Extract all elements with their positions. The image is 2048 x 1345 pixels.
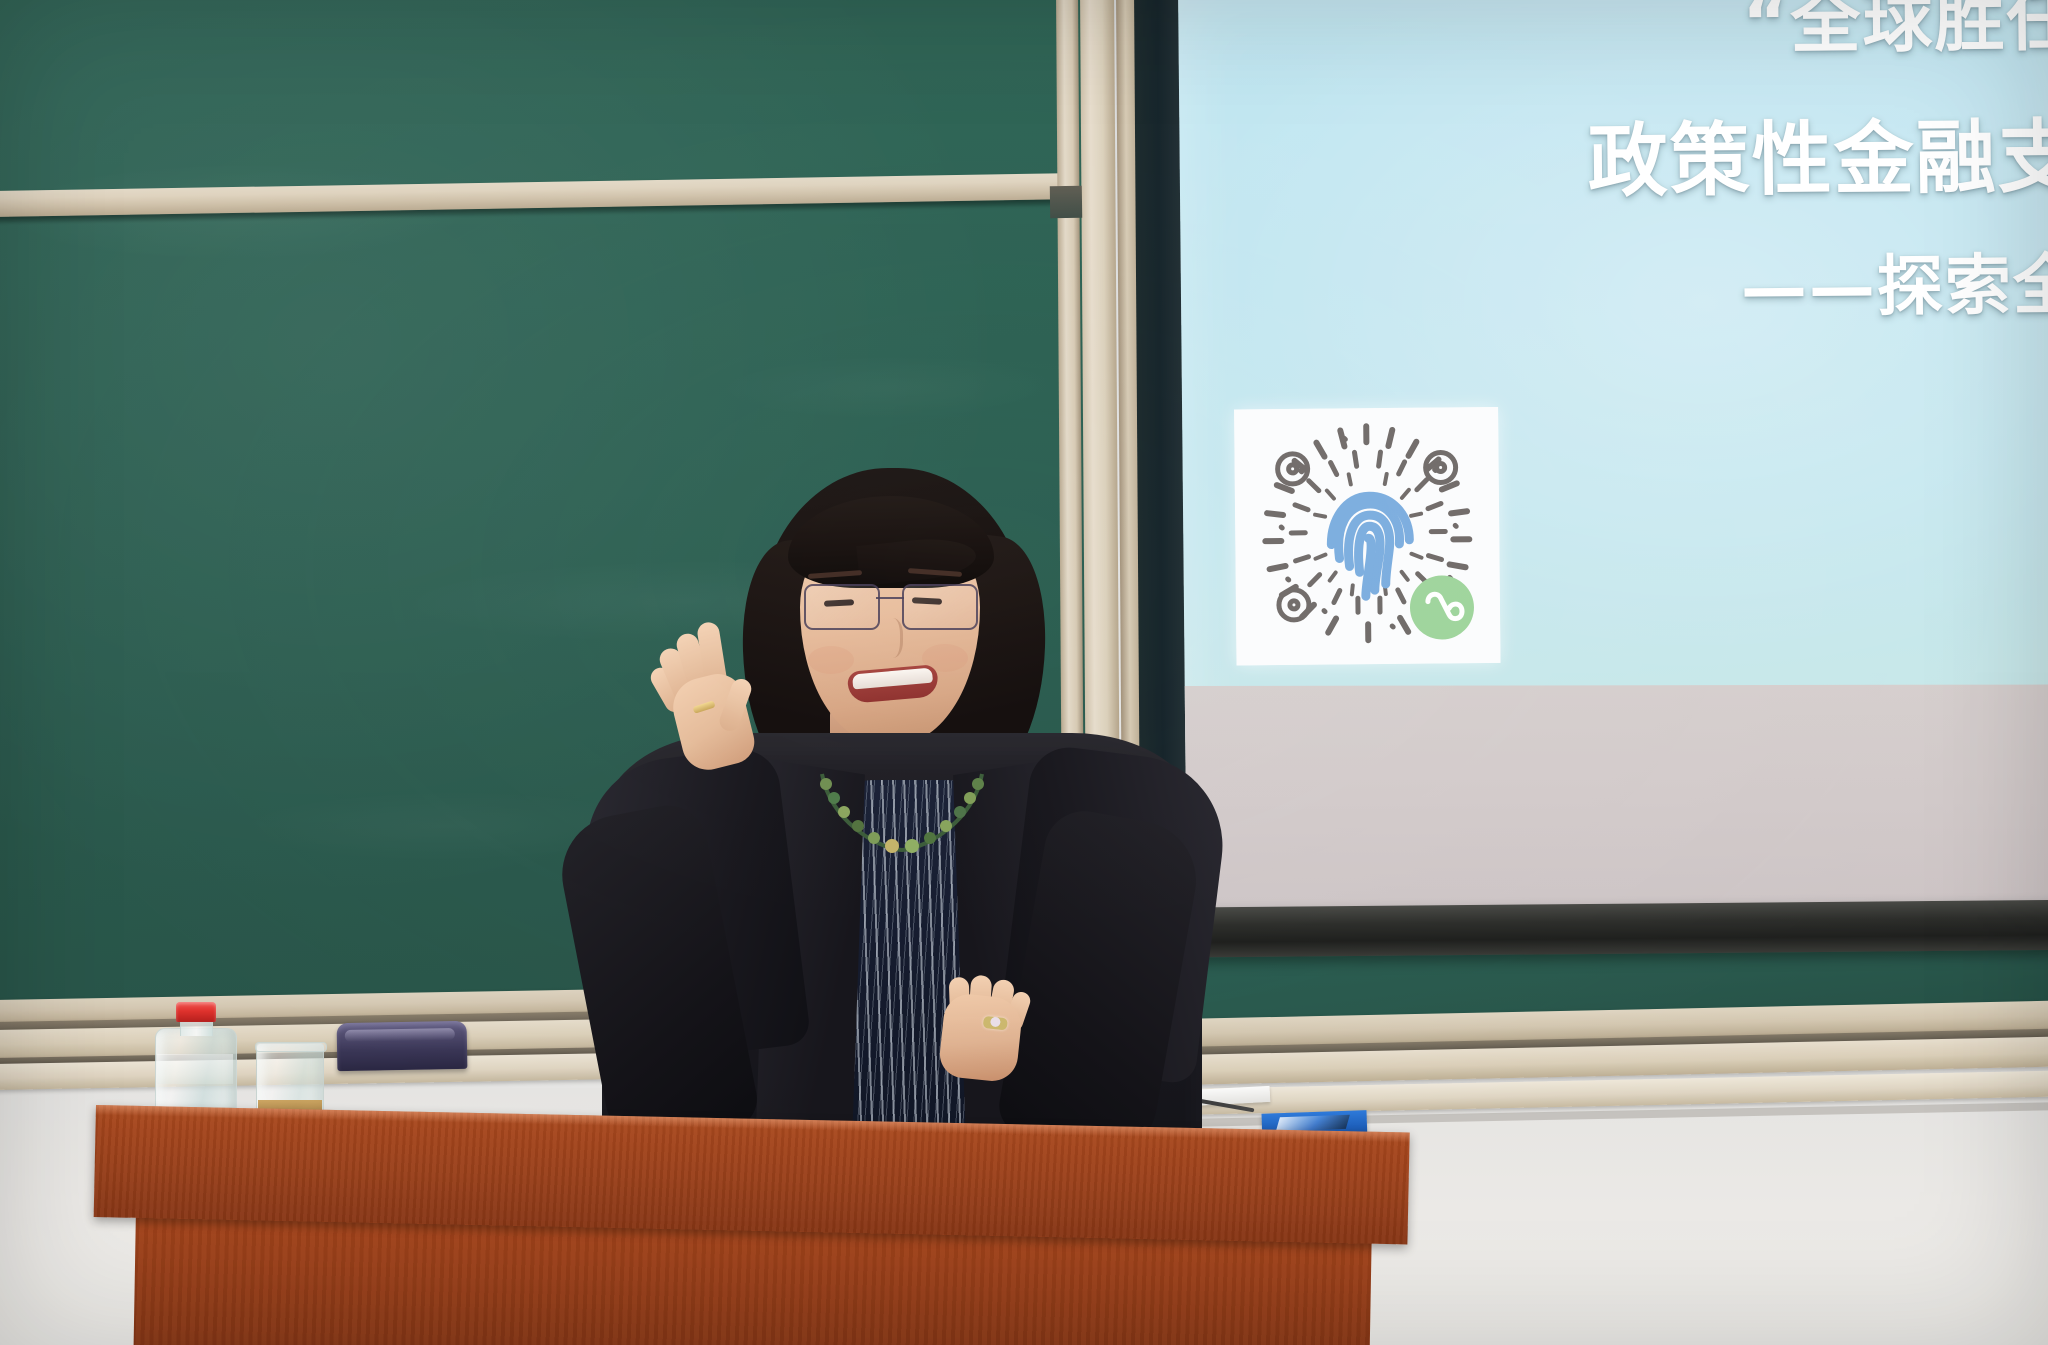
- jade-necklace: [816, 772, 988, 858]
- water-bottle[interactable]: [155, 1002, 235, 1114]
- nose: [878, 618, 903, 658]
- eyeglass-lens-right: [902, 584, 978, 630]
- blackboard-eraser[interactable]: [337, 1021, 468, 1071]
- eyeglass-bridge: [876, 597, 904, 599]
- drinking-glass[interactable]: [256, 1043, 324, 1118]
- board-frame-joint: [1050, 186, 1082, 218]
- projection-screen: “全球胜任 政策性金融支 ——探索全: [1178, 0, 2048, 931]
- teeth: [852, 668, 933, 690]
- drinking-glass-rim: [255, 1042, 327, 1052]
- lecture-hall-photo: “全球胜任 政策性金融支 ——探索全: [0, 0, 2048, 1345]
- hand-right: [931, 975, 1038, 1094]
- wechat-mini-program-icon: [1410, 575, 1475, 640]
- slide-lower-band: [1178, 684, 2048, 931]
- slide-title-line-3: ——探索全: [1181, 239, 2048, 340]
- water-bottle-label: [157, 1054, 233, 1084]
- ring-right-hand: [983, 1016, 1008, 1030]
- cheek-left: [808, 646, 854, 674]
- slide-title-line-1: “全球胜任: [1178, 0, 2048, 76]
- slide-title-line-2: 政策性金融支: [1179, 105, 2048, 218]
- water-bottle-cap: [176, 1002, 216, 1022]
- speaker: [640, 480, 1160, 1180]
- wechat-mini-program-qr-code[interactable]: [1234, 407, 1500, 666]
- projection-screen-weight-bar: [1130, 900, 2048, 958]
- eyeglass-lens-left: [804, 584, 880, 630]
- palm-right: [938, 992, 1024, 1084]
